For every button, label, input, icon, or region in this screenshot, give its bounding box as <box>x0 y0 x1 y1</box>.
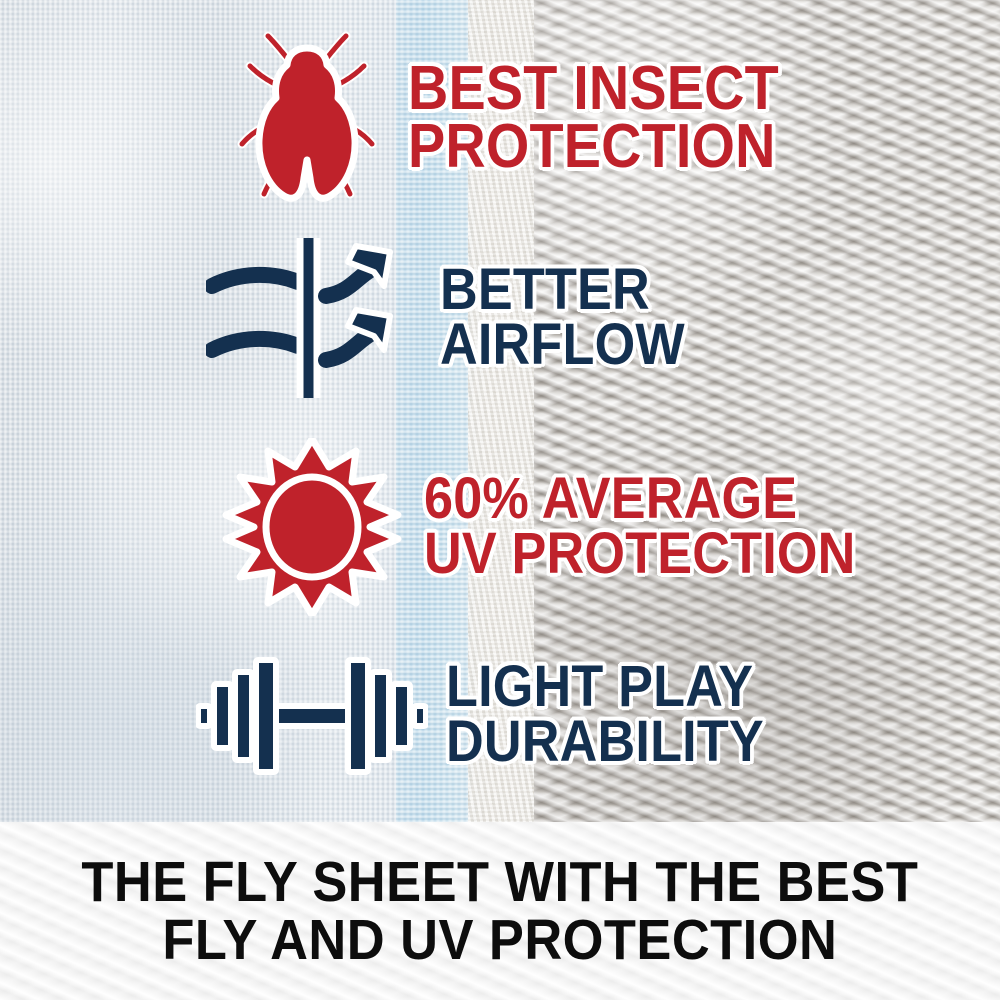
feature-label-uv: 60% AVERAGE UV PROTECTION <box>424 472 856 581</box>
feature-label-durability: LIGHT PLAY DURABILITY <box>446 660 764 769</box>
fly-icon <box>232 28 382 208</box>
feature-label-insect: BEST INSECT PROTECTION <box>408 60 779 177</box>
sun-icon <box>222 438 402 616</box>
product-feature-poster: BEST INSECT PROTECTION <box>0 0 1000 1000</box>
dumbbell-icon <box>196 650 428 780</box>
caption-line-2: FLY AND UV PROTECTION <box>163 911 838 969</box>
feature-label-airflow: BETTER AIRFLOW <box>440 263 685 372</box>
feature-row-insect: BEST INSECT PROTECTION <box>232 28 820 208</box>
feature-list: BEST INSECT PROTECTION <box>0 0 1000 822</box>
feature-row-airflow: BETTER AIRFLOW <box>206 238 712 398</box>
caption-line-1: THE FLY SHEET WITH THE BEST <box>82 853 919 911</box>
bottom-caption-band: THE FLY SHEET WITH THE BEST FLY AND UV P… <box>0 822 1000 1000</box>
feature-row-uv: 60% AVERAGE UV PROTECTION <box>222 438 904 616</box>
feature-row-durability: LIGHT PLAY DURABILITY <box>196 650 799 780</box>
airflow-arrows-icon <box>206 238 424 398</box>
